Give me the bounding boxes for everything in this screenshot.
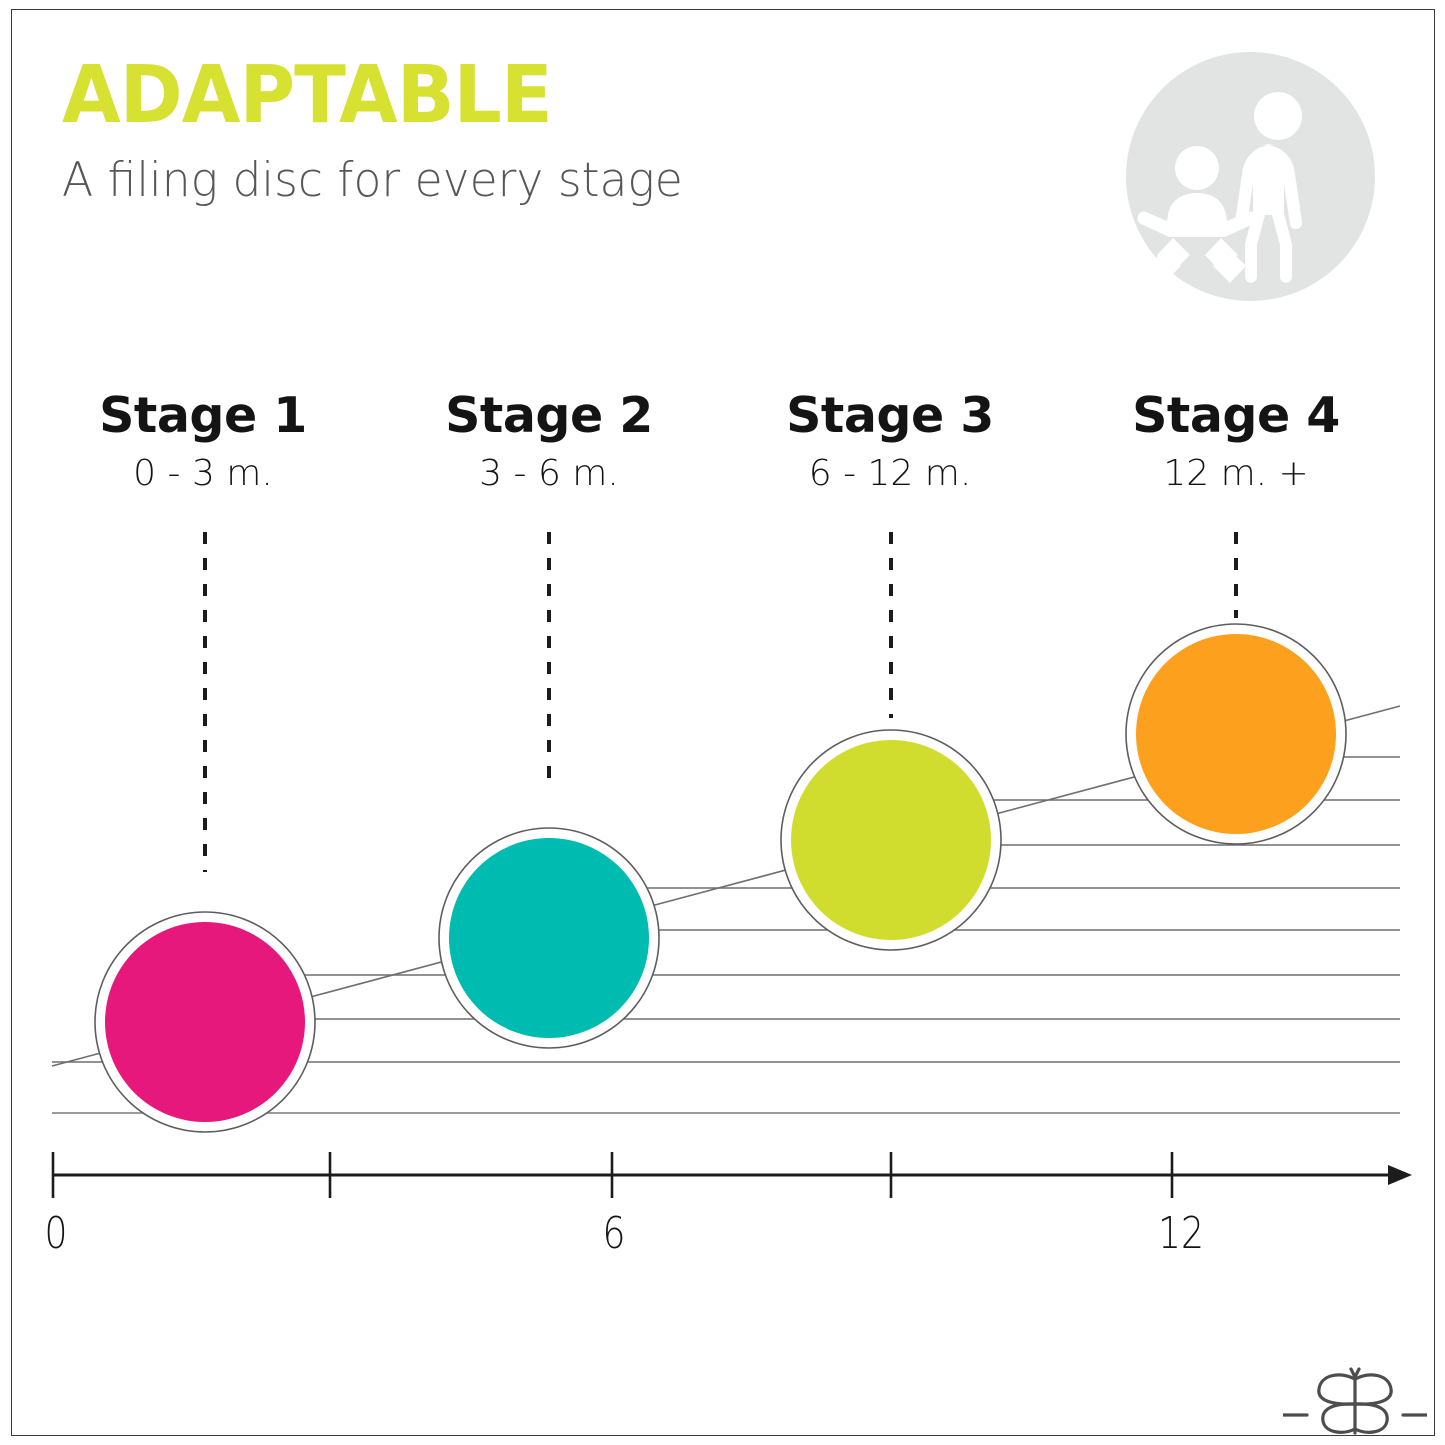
stage-connectors: [205, 532, 1236, 872]
disc-stage-4[interactable]: [1126, 624, 1346, 844]
disc-stage-1[interactable]: [95, 912, 315, 1132]
infographic-canvas: ADAPTABLE A filing disc for every stage: [0, 0, 1445, 1445]
butterfly-logo: [1283, 1345, 1427, 1441]
x-axis: [52, 1152, 1412, 1198]
axis-arrowhead: [1388, 1165, 1412, 1185]
axis-tick-label-6: 6: [603, 1212, 626, 1256]
axis-tick-label-0: 0: [45, 1212, 68, 1256]
stage-chart: [0, 0, 1445, 1445]
axis-tick-label-12: 12: [1158, 1212, 1204, 1256]
disc-stage-3[interactable]: [781, 730, 1001, 950]
disc-stage-2[interactable]: [439, 828, 659, 1048]
